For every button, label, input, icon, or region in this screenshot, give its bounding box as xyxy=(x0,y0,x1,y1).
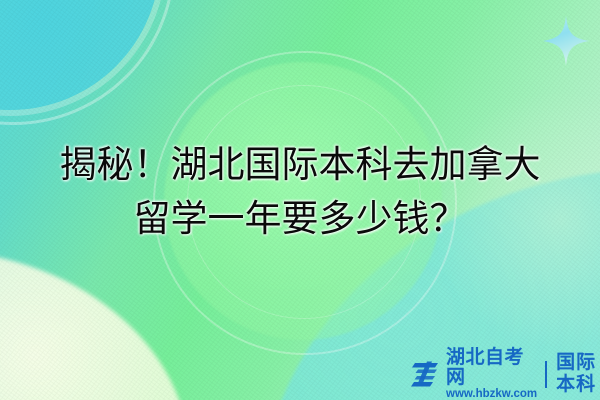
logo-text-block: 湖北自考网 www.hbzkw.com xyxy=(446,348,537,400)
bottom-left-cream-sweep-decoration xyxy=(0,250,190,400)
site-logo[interactable]: 湖北自考网 www.hbzkw.com 国际本科 xyxy=(411,357,600,391)
headline-line-1: 揭秘！湖北国际本科去加拿大 xyxy=(0,138,600,192)
hbzkw-z-mark-icon xyxy=(411,360,441,388)
headline-line-2: 留学一年要多少钱？ xyxy=(0,192,600,246)
banner-headline: 揭秘！湖北国际本科去加拿大 留学一年要多少钱？ xyxy=(0,138,600,246)
promo-banner: 揭秘！湖北国际本科去加拿大 留学一年要多少钱？ 湖北自考网 www.hbzkw.… xyxy=(0,0,600,400)
four-point-sparkle-icon xyxy=(543,16,589,66)
top-left-ring-decoration xyxy=(0,0,175,125)
top-left-circle-decoration xyxy=(0,0,160,110)
logo-site-name: 湖北自考网 xyxy=(446,348,537,388)
logo-divider xyxy=(545,361,547,388)
logo-site-url: www.hbzkw.com xyxy=(446,388,537,400)
logo-tagline: 国际本科 xyxy=(556,352,600,396)
